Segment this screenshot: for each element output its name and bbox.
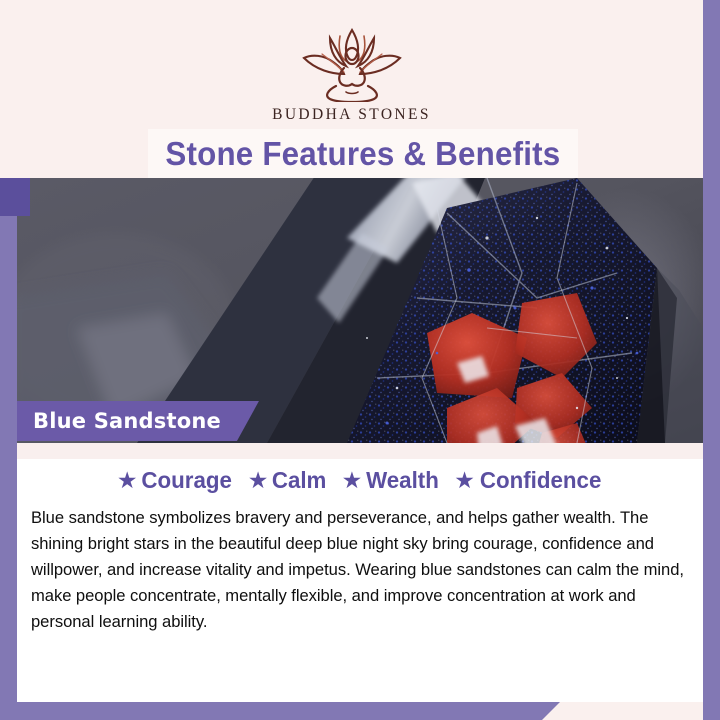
star-icon: ★ bbox=[117, 469, 138, 492]
brand-logo: BUDDHA STONES bbox=[0, 24, 703, 124]
description-section: ★ Courage ★ Calm ★ Wealth ★ Confidence B… bbox=[17, 459, 703, 702]
star-icon: ★ bbox=[342, 469, 363, 492]
benefit-label: Courage bbox=[142, 467, 232, 494]
product-info-card: BUDDHA STONES Stone Features & Benefits bbox=[0, 0, 720, 720]
benefit-wealth: ★ Wealth bbox=[342, 467, 441, 494]
divider-strip bbox=[17, 443, 703, 459]
benefit-label: Confidence bbox=[480, 467, 601, 494]
benefit-label: Calm bbox=[272, 467, 327, 494]
frame-band-left bbox=[0, 178, 17, 720]
benefit-courage: ★ Courage bbox=[117, 467, 234, 494]
header: BUDDHA STONES Stone Features & Benefits bbox=[0, 0, 703, 178]
description-paragraph: Blue sandstone symbolizes bravery and pe… bbox=[31, 505, 689, 635]
description-text: Blue sandstone symbolizes bravery and pe… bbox=[31, 505, 689, 635]
star-icon: ★ bbox=[248, 469, 269, 492]
frame-corner-notch bbox=[0, 178, 30, 216]
lotus-meditation-icon bbox=[278, 24, 426, 102]
benefit-confidence: ★ Confidence bbox=[454, 467, 603, 494]
benefit-calm: ★ Calm bbox=[248, 467, 328, 494]
stone-name-text: Blue Sandstone bbox=[33, 409, 221, 433]
frame-band-right bbox=[703, 0, 720, 720]
frame-band-bottom bbox=[0, 702, 560, 720]
benefits-row: ★ Courage ★ Calm ★ Wealth ★ Confidence bbox=[17, 459, 703, 494]
brand-name: BUDDHA STONES bbox=[272, 106, 431, 124]
page-title: Stone Features & Benefits bbox=[148, 129, 578, 178]
stone-name-badge: Blue Sandstone bbox=[17, 401, 259, 441]
benefit-label: Wealth bbox=[366, 467, 439, 494]
star-icon: ★ bbox=[454, 469, 475, 492]
page-title-text: Stone Features & Benefits bbox=[166, 135, 561, 173]
